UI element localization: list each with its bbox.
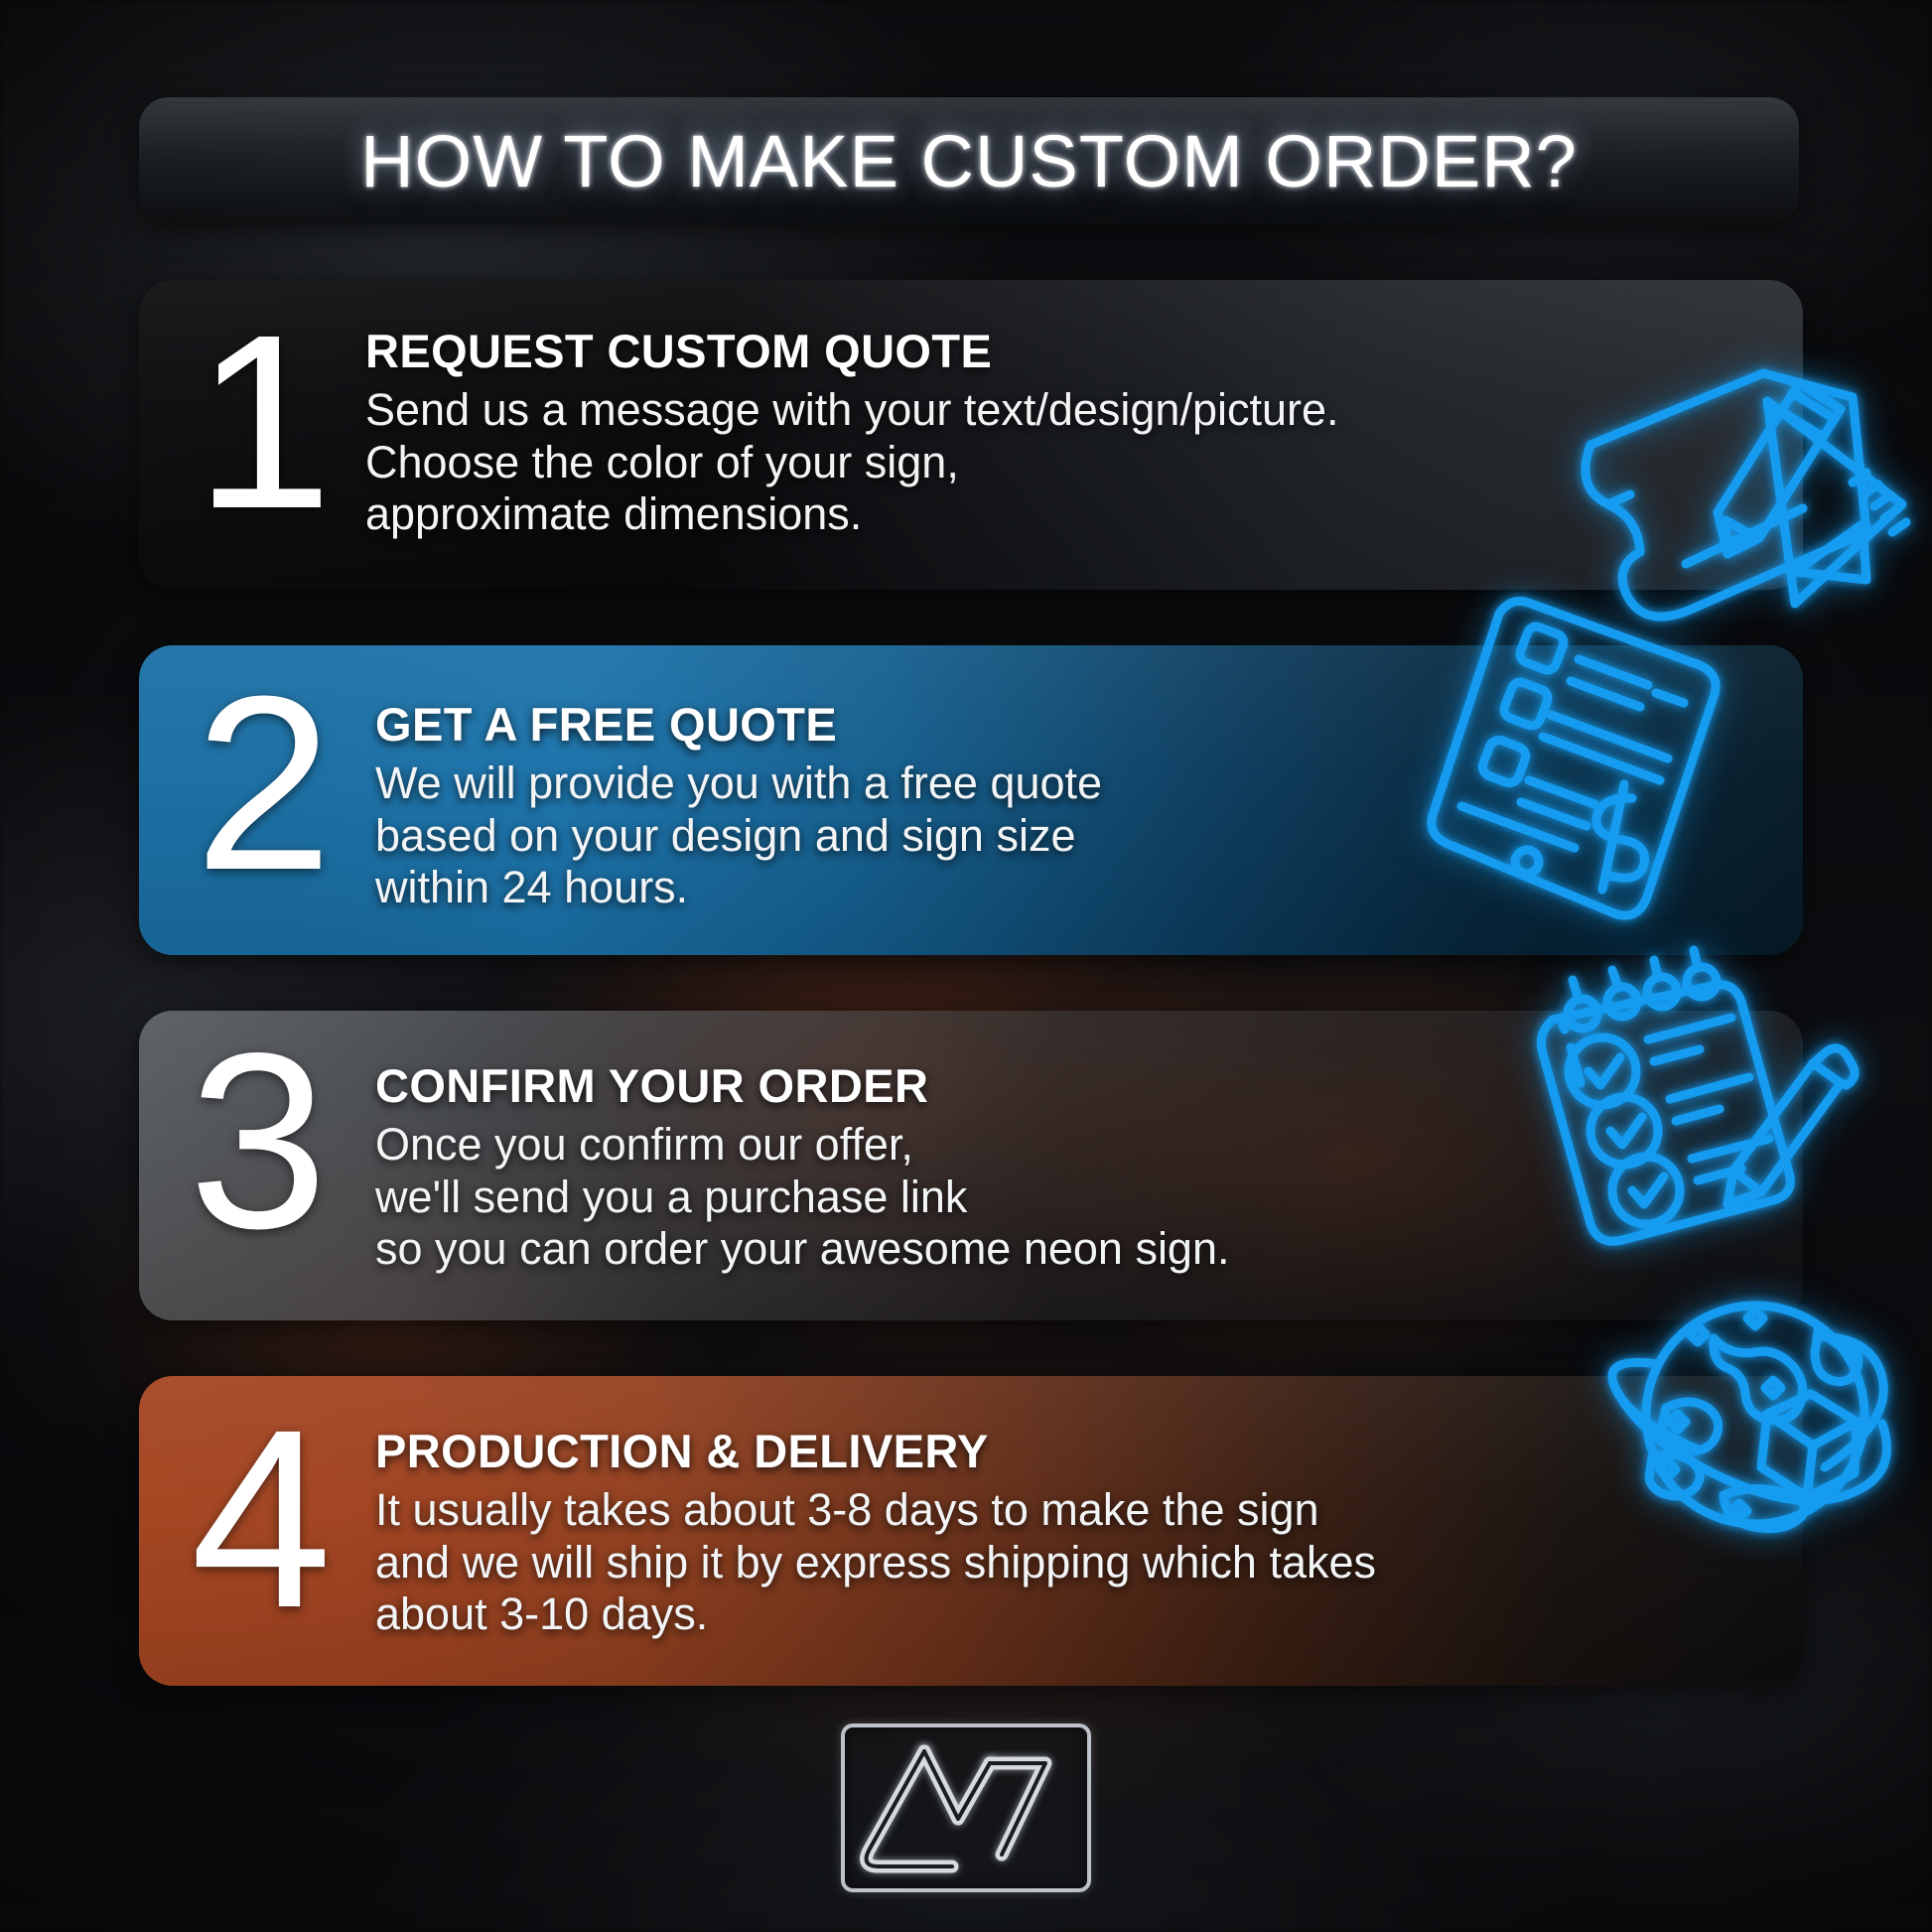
step-heading-2: GET A FREE QUOTE	[375, 697, 1102, 752]
step-description-line: within 24 hours.	[375, 862, 1102, 914]
logo-mark	[841, 1724, 1091, 1892]
step-number-2: 2	[195, 659, 333, 907]
step-number-4: 4	[191, 1392, 332, 1646]
step-heading-1: REQUEST CUSTOM QUOTE	[365, 324, 1339, 378]
step-description-line: Choose the color of your sign,	[365, 437, 1339, 489]
step-card-2: 2 GET A FREE QUOTE We will provide you w…	[139, 645, 1803, 955]
step-number-3: 3	[189, 1017, 328, 1267]
step-body-2: GET A FREE QUOTE We will provide you wit…	[375, 697, 1102, 914]
step-description-line: approximate dimensions.	[365, 488, 1339, 541]
infographic-canvas: HOW TO MAKE CUSTOM ORDER? 1 REQUEST CUST…	[0, 0, 1932, 1932]
step-number-1: 1	[195, 298, 333, 546]
step-description-line: we'll send you a purchase link	[375, 1172, 1230, 1224]
step-description-3: Once you confirm our offer, we'll send y…	[375, 1119, 1230, 1276]
ln-monogram-logo	[841, 1724, 1091, 1892]
step-description-line: based on your design and sign size	[375, 810, 1102, 863]
step-description-line: so you can order your awesome neon sign.	[375, 1223, 1230, 1276]
step-description-line: Once you confirm our offer,	[375, 1119, 1230, 1172]
page-title: HOW TO MAKE CUSTOM ORDER?	[360, 119, 1578, 204]
step-heading-4: PRODUCTION & DELIVERY	[375, 1424, 1376, 1478]
step-description-line: and we will ship it by express shipping …	[375, 1537, 1376, 1589]
step-description-2: We will provide you with a free quote ba…	[375, 758, 1102, 914]
step-body-4: PRODUCTION & DELIVERY It usually takes a…	[375, 1424, 1376, 1641]
step-card-4: 4 PRODUCTION & DELIVERY It usually takes…	[139, 1376, 1803, 1686]
step-description-line: about 3-10 days.	[375, 1588, 1376, 1641]
step-heading-3: CONFIRM YOUR ORDER	[375, 1058, 1230, 1113]
step-description-line: We will provide you with a free quote	[375, 758, 1102, 810]
step-card-1: 1 REQUEST CUSTOM QUOTE Send us a message…	[139, 280, 1803, 590]
step-body-1: REQUEST CUSTOM QUOTE Send us a message w…	[365, 324, 1339, 541]
page-title-bar: HOW TO MAKE CUSTOM ORDER?	[139, 97, 1799, 224]
step-description-line: Send us a message with your text/design/…	[365, 384, 1339, 437]
step-description-1: Send us a message with your text/design/…	[365, 384, 1339, 541]
step-body-3: CONFIRM YOUR ORDER Once you confirm our …	[375, 1058, 1230, 1276]
step-card-3: 3 CONFIRM YOUR ORDER Once you confirm ou…	[139, 1011, 1803, 1320]
step-description-4: It usually takes about 3-8 days to make …	[375, 1484, 1376, 1641]
step-description-line: It usually takes about 3-8 days to make …	[375, 1484, 1376, 1537]
